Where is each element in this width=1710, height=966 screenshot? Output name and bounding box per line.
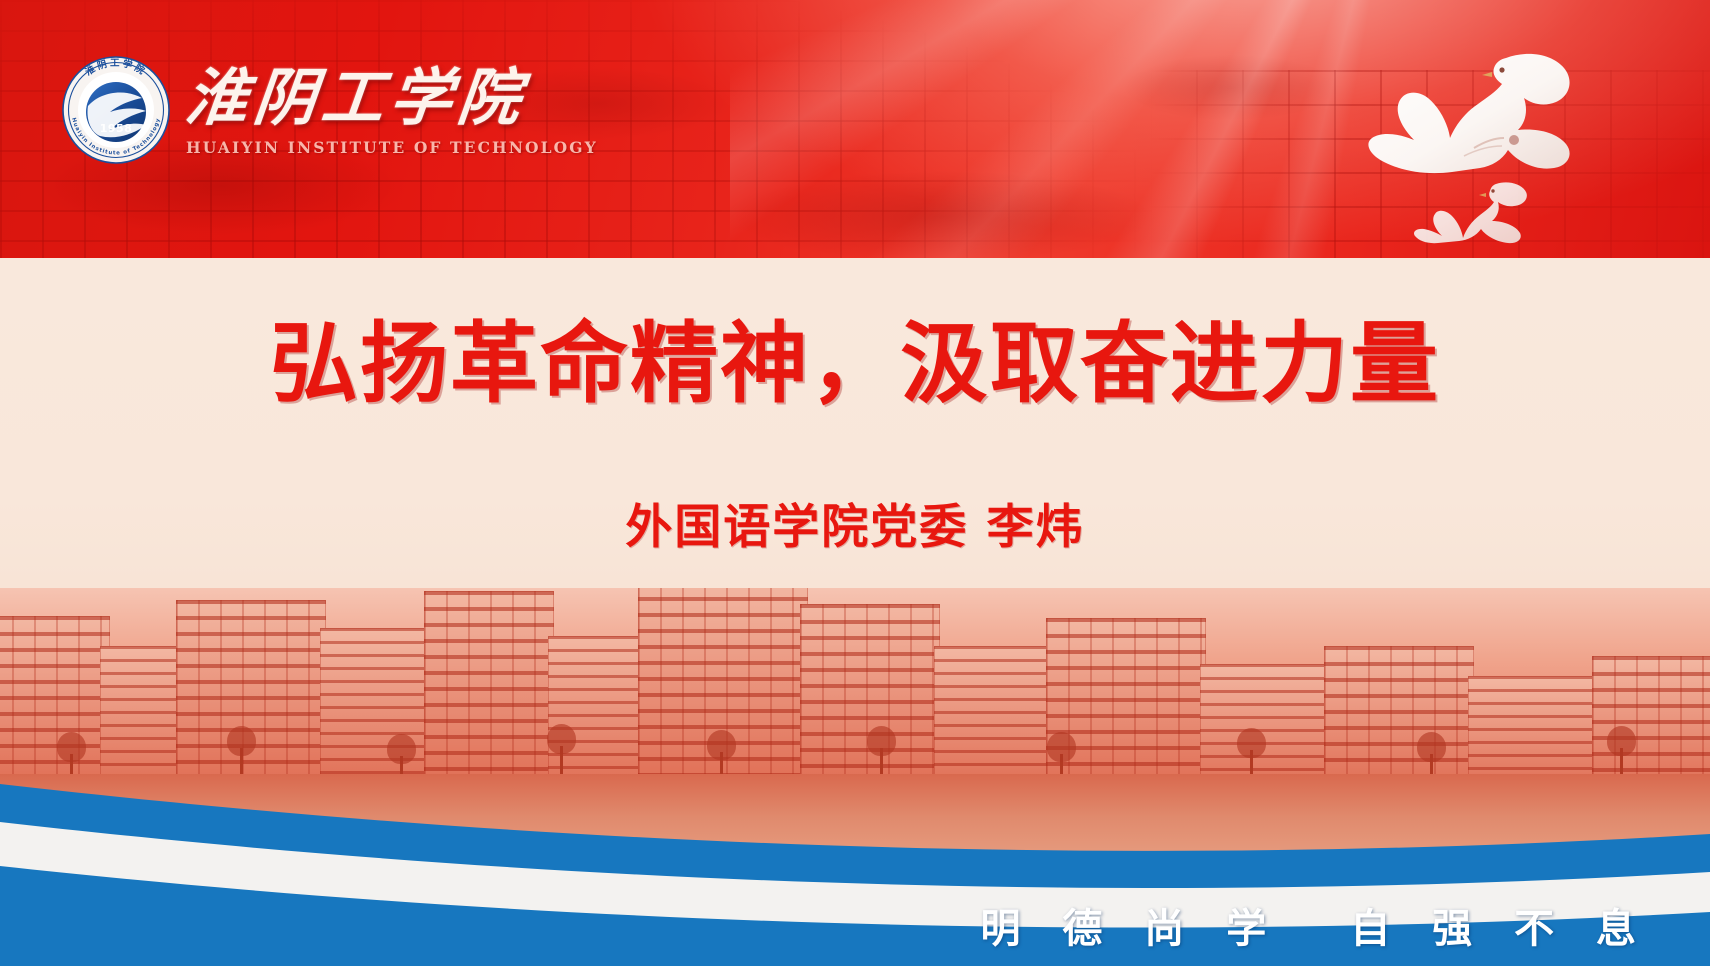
university-crest-icon: 1958 淮阴工学院 Huaiyin Institute of Technolo… — [62, 56, 170, 164]
light-rays-decoration — [730, 0, 1710, 258]
university-name-cn: 淮阴工学院 — [183, 67, 601, 129]
motto-phrase-2: 自 强 不 息 — [1350, 896, 1650, 954]
presentation-slide: 1958 淮阴工学院 Huaiyin Institute of Technolo… — [0, 0, 1710, 966]
svg-text:1958: 1958 — [100, 122, 133, 135]
presenter-subtitle: 外国语学院党委 李炜 — [0, 500, 1710, 556]
world-map-grid-right-decoration — [1150, 70, 1710, 258]
dove-icon — [1356, 44, 1586, 194]
university-logo-lockup: 1958 淮阴工学院 Huaiyin Institute of Technolo… — [62, 56, 598, 164]
slide-header-banner: 1958 淮阴工学院 Huaiyin Institute of Technolo… — [0, 0, 1710, 258]
dove-icon — [1412, 176, 1532, 248]
page-title: 弘扬革命精神，汲取奋进力量 — [0, 316, 1710, 413]
university-name-en: HUAIYIN INSTITUTE OF TECHNOLOGY — [186, 138, 598, 157]
university-motto: 明 德 尚 学 自 强 不 息 — [980, 896, 1650, 954]
motto-phrase-1: 明 德 尚 学 — [980, 896, 1280, 954]
university-wordmark: 淮阴工学院 HUAIYIN INSTITUTE OF TECHNOLOGY — [186, 63, 598, 157]
